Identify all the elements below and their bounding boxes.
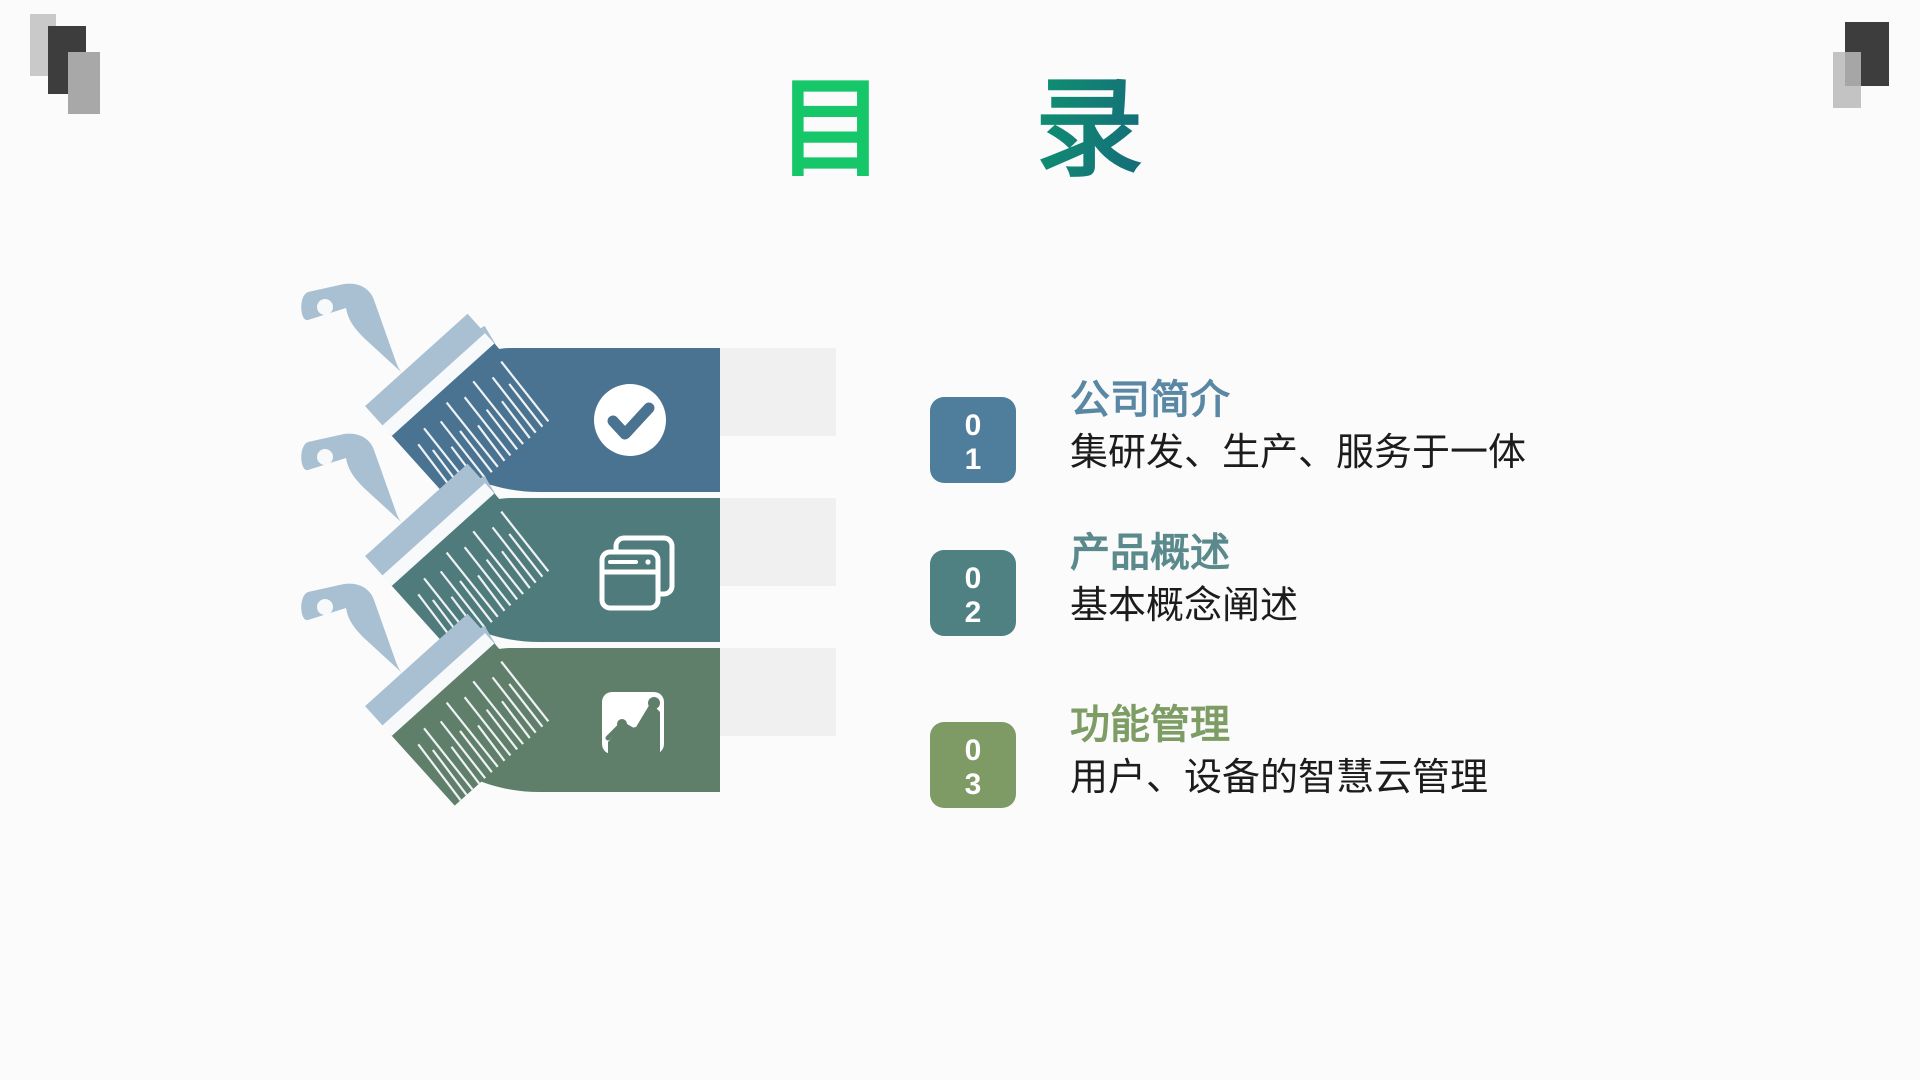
toc-heading-1: 公司简介 (1070, 375, 1690, 425)
toc-item-3[interactable]: 0 3 功能管理 用户、设备的智慧云管理 (930, 700, 1690, 820)
badge-digit-bottom: 3 (930, 768, 1016, 802)
badge-digit-top: 0 (930, 550, 1016, 596)
brush-illustration-group (300, 280, 860, 830)
toc-number-badge-1: 0 1 (930, 397, 1016, 483)
brush-graphic-3 (300, 580, 860, 810)
brush-row-3 (300, 580, 860, 810)
toc-item-1[interactable]: 0 1 公司简介 集研发、生产、服务于一体 (930, 375, 1690, 495)
toc-subtitle-2: 基本概念阐述 (1070, 578, 1690, 632)
toc-number-badge-3: 0 3 (930, 722, 1016, 808)
line-chart-icon (602, 692, 664, 754)
badge-digit-bottom: 1 (930, 443, 1016, 477)
badge-digit-top: 0 (930, 397, 1016, 443)
toc-text-block-1: 公司简介 集研发、生产、服务于一体 (1070, 375, 1690, 479)
badge-digit-bottom: 2 (930, 596, 1016, 630)
toc-number-badge-2: 0 2 (930, 550, 1016, 636)
toc-item-2[interactable]: 0 2 产品概述 基本概念阐述 (930, 528, 1690, 648)
slide-title-container: 目 录 (0, 70, 1920, 200)
toc-text-block-2: 产品概述 基本概念阐述 (1070, 528, 1690, 632)
toc-subtitle-3: 用户、设备的智慧云管理 (1070, 750, 1690, 804)
toc-heading-2: 产品概述 (1070, 528, 1690, 578)
presentation-slide: 目 录 (0, 0, 1920, 1080)
toc-heading-3: 功能管理 (1070, 700, 1690, 750)
toc-text-block-3: 功能管理 用户、设备的智慧云管理 (1070, 700, 1690, 804)
toc-subtitle-1: 集研发、生产、服务于一体 (1070, 425, 1690, 479)
badge-digit-top: 0 (930, 722, 1016, 768)
page-title: 目 录 (777, 70, 1143, 190)
